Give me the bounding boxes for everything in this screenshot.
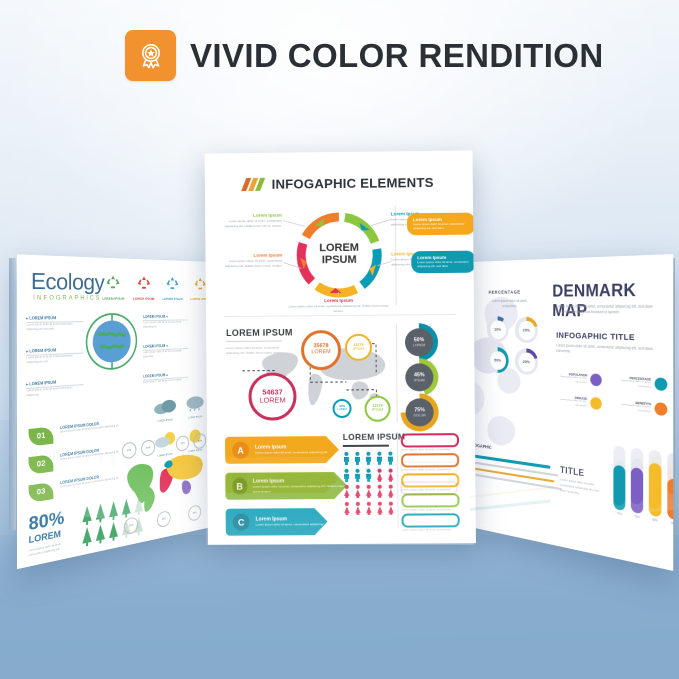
leaf-number-01: 01 xyxy=(29,426,54,446)
ecology-subtitle: INFOGRAPHICS xyxy=(33,295,101,302)
person-icon xyxy=(354,452,361,465)
arrow-bar-key: B xyxy=(232,478,247,495)
map-bubble: 30% xyxy=(124,516,138,535)
ecology-callout-left-2: ▸ LOREM IPSUM Lorem ipsum dolor sit amet… xyxy=(26,347,83,365)
map-marker-4[interactable]: 4476 LOREM xyxy=(332,399,351,418)
header: VIVID COLOR RENDITION xyxy=(125,30,604,81)
people-section-rule xyxy=(343,445,389,447)
percent-ring-75: 75% DOLOR xyxy=(400,393,438,431)
pill-caption-5: Lorem ipsum dolor sit amet, consectetur xyxy=(402,527,452,531)
map-bubble: 20% xyxy=(188,504,201,522)
percent-ring-3: 50% xyxy=(487,347,509,374)
ecology-callout-left-3: ▸ LOREM IPSUM Lorem ipsum dolor sit amet… xyxy=(26,378,83,398)
tree-icon xyxy=(81,526,92,547)
percent-ring-inner: 75% DOLOR xyxy=(405,398,433,426)
bar-column: 70% xyxy=(631,447,643,520)
legend-dot xyxy=(655,402,668,416)
person-icon-female xyxy=(354,485,361,498)
award-medal-icon xyxy=(125,30,176,81)
arrow-bar-text: Lorem Ipsum Lorem ipsum dolor sit amet, … xyxy=(255,444,328,455)
cloud-icon xyxy=(153,397,177,415)
person-icon-female xyxy=(376,468,383,481)
pill-caption-1: Lorem ipsum dolor sit amet, consectetur xyxy=(401,447,451,451)
map-bubble: 30% xyxy=(176,435,189,452)
arrow-bar-b[interactable]: B Lorem Ipsum Lorem ipsum dolor sit amet… xyxy=(225,472,347,500)
arrow-bar-a[interactable]: A Lorem Ipsum Lorem ipsum dolor sit amet… xyxy=(225,436,339,464)
rain-cloud-icon xyxy=(184,395,206,412)
percentage-section-label: PERCENTAGE xyxy=(489,289,521,294)
person-icon xyxy=(343,468,350,481)
arrow-bar-key: A xyxy=(232,442,249,459)
bar-column: 70% xyxy=(613,445,625,517)
legend-item: PERCENTAGE Lorem ipsum dolor sit amet, c… xyxy=(608,374,667,391)
denmark-map-panel[interactable]: PERCENTAGE Lorem ipsum dolor sit amet, c… xyxy=(470,254,673,571)
map-bubble: 60% xyxy=(193,433,206,450)
person-icon-female xyxy=(365,501,372,514)
arrow-bar-c[interactable]: C Lorem Ipsum Lorem ipsum dolor sit amet… xyxy=(226,508,328,536)
legend-dot xyxy=(590,397,601,410)
person-icon xyxy=(354,468,361,481)
pill-item-3[interactable] xyxy=(401,473,459,487)
percent-ring-value: 50% xyxy=(490,350,506,369)
arrow-bar-text: Lorem Ipsum Lorem ipsum dolor sit amet, … xyxy=(256,516,324,527)
percent-ring-inner: 45% IPSUM xyxy=(405,363,433,391)
tree-icon xyxy=(108,521,119,542)
numbered-item-02: LOREM IPSUM DOLOR Lorem ipsum dolor sit … xyxy=(60,445,122,462)
pill-item-5[interactable] xyxy=(401,513,459,527)
pill-caption-3: Lorem ipsum dolor sit amet, consectetur xyxy=(401,487,451,491)
pill-caption-4: Lorem ipsum dolor sit amet, consectetur xyxy=(401,507,451,511)
legend-grid: POPULATION Lorem ipsum dolor sit amet, c… xyxy=(548,371,667,416)
map-bubble: 45% xyxy=(157,510,171,528)
globe-icon xyxy=(83,311,139,374)
denmark-subtitle: INFOGAPHIC TITLE xyxy=(556,330,635,342)
map-bubble: 30% xyxy=(122,441,136,459)
arrow-bar-key: C xyxy=(233,514,250,531)
bar-column: 60% xyxy=(667,452,673,527)
map-marker-1[interactable]: 35678 LOREM xyxy=(301,330,341,370)
map-marker-2[interactable]: 12179 IPSUM xyxy=(345,334,372,361)
legend-item: POPULATION Lorem ipsum dolor sit amet, c… xyxy=(548,371,601,387)
percent-ring-value: 20% xyxy=(518,352,535,372)
tag-badge-1[interactable]: Lorem Ipsum Lorem ipsum dolor sit amet, … xyxy=(407,213,475,235)
person-icon xyxy=(376,452,383,465)
percent-ring-1: 10% xyxy=(487,316,509,342)
percent-ring-45: 45% IPSUM xyxy=(400,358,438,396)
page-title: VIVID COLOR RENDITION xyxy=(190,37,604,75)
percent-ring-2: 20% xyxy=(515,317,538,344)
numbered-item-03: LOREM IPSUM DOLOR Lorem ipsum dolor sit … xyxy=(60,471,122,489)
pill-item-1[interactable] xyxy=(401,433,459,447)
legend-dot xyxy=(590,373,601,386)
percent-ring-4: 20% xyxy=(515,348,538,376)
map-bubble: 50% xyxy=(141,439,155,457)
arrow-bar-text: Lorem Ipsum Lorem ipsum dolor sit amet, … xyxy=(253,478,347,493)
person-icon-female xyxy=(387,485,394,498)
tree-icon xyxy=(81,505,92,526)
person-icon-female xyxy=(343,501,350,514)
leaf-number-03: 03 xyxy=(29,482,54,503)
person-icon-female xyxy=(387,501,394,514)
recycle-item: LOREM IPSUM xyxy=(133,274,154,301)
screenshot-canvas: VIVID COLOR RENDITION Ecology INFOGRAPHI… xyxy=(0,0,679,679)
bar-chart-title: TITLE Lorem ipsum dolor sit amet, consec… xyxy=(560,465,605,500)
recycle-label-row: LOREM IPSUM LOREM IPSUM LOREM IPSUM LORE… xyxy=(102,273,210,301)
bar-chart: 70% 70% 80% 60% xyxy=(613,445,673,526)
people-section-title: LOREM IPSUM xyxy=(343,432,406,442)
person-icon xyxy=(343,452,350,465)
pill-item-2[interactable] xyxy=(401,453,459,467)
ecology-callout-right-2: LOREM IPSUM ◂ Lorem ipsum dolor sit amet… xyxy=(143,343,188,359)
person-icon-female xyxy=(365,485,372,498)
weather-item: LOREM IPSUM xyxy=(152,397,177,424)
bar-column: 80% xyxy=(649,450,662,524)
tag-badge-2[interactable]: Lorem Ipsum Lorem ipsum dolor sit amet, … xyxy=(411,251,475,273)
tree-icon xyxy=(95,503,106,524)
floor-reflection-surface xyxy=(0,535,679,679)
tree-icon xyxy=(95,523,106,544)
legend-dot xyxy=(655,377,668,391)
person-icon xyxy=(387,452,394,465)
recycle-item: LOREM IPSUM xyxy=(102,273,124,301)
ecology-callout-right-3: LOREM IPSUM ◂ Lorem ipsum dolor sit amet… xyxy=(143,372,188,385)
people-pictogram-grid xyxy=(343,452,390,515)
person-icon-female xyxy=(376,485,383,498)
map-marker-3[interactable]: 54637 LOREM xyxy=(248,372,296,420)
person-icon-female xyxy=(387,468,394,481)
left-panel-edge xyxy=(9,258,16,531)
tree-icon xyxy=(108,500,119,521)
pill-caption-2: Lorem ipsum dolor sit amet, consectetur xyxy=(401,467,451,471)
person-icon-female xyxy=(343,485,350,498)
leaf-number-02: 02 xyxy=(29,454,54,475)
recycle-label: LOREM IPSUM xyxy=(162,297,182,301)
ecology-infographic-panel[interactable]: Ecology INFOGRAPHICS LOREM IPSUM LOREM I… xyxy=(17,254,212,569)
person-icon xyxy=(365,452,372,465)
pill-item-4[interactable] xyxy=(401,493,459,507)
percent-ring-value: 10% xyxy=(490,320,506,339)
infographic-elements-panel[interactable]: INFOGAPHIC ELEMENTS xyxy=(205,150,476,544)
ecology-callout-right-1: LOREM IPSUM ◂ Lorem ipsum dolor sit amet… xyxy=(143,314,188,329)
person-icon xyxy=(365,468,372,481)
person-icon-female xyxy=(376,501,383,514)
denmark-body: Lorem ipsum dolor sit amet, consectetur … xyxy=(556,304,662,317)
percent-ring-inner: 50% LOREM xyxy=(405,328,433,356)
percentage-section-body: Lorem ipsum dolor sit amet, consectetur. xyxy=(485,299,535,311)
recycle-label: LOREM IPSUM xyxy=(133,297,154,301)
recycle-label: LOREM IPSUM xyxy=(102,296,124,300)
ecology-callout-left-1: ▸ LOREM IPSUM Lorem ipsum dolor sit amet… xyxy=(26,315,83,332)
weather-item: LOREM IPSUM xyxy=(183,394,207,420)
denmark-sub-body: Lorem ipsum dolor sit amet, consectetur … xyxy=(556,343,662,360)
percent-ring-50: 50% LOREM xyxy=(400,323,438,361)
numbered-item-01: LOREM IPSUM DOLOR Lorem ipsum dolor sit … xyxy=(60,419,122,434)
map-marker-5[interactable]: 12179 IPSUM xyxy=(364,396,390,422)
recycle-item: LOREM IPSUM xyxy=(162,275,182,301)
percent-ring-value: 20% xyxy=(518,320,535,339)
person-icon-female xyxy=(354,501,361,514)
legend-item: BENEFITS Lorem ipsum dolor sit amet, con… xyxy=(608,398,667,416)
ecology-title: Ecology xyxy=(31,269,104,296)
